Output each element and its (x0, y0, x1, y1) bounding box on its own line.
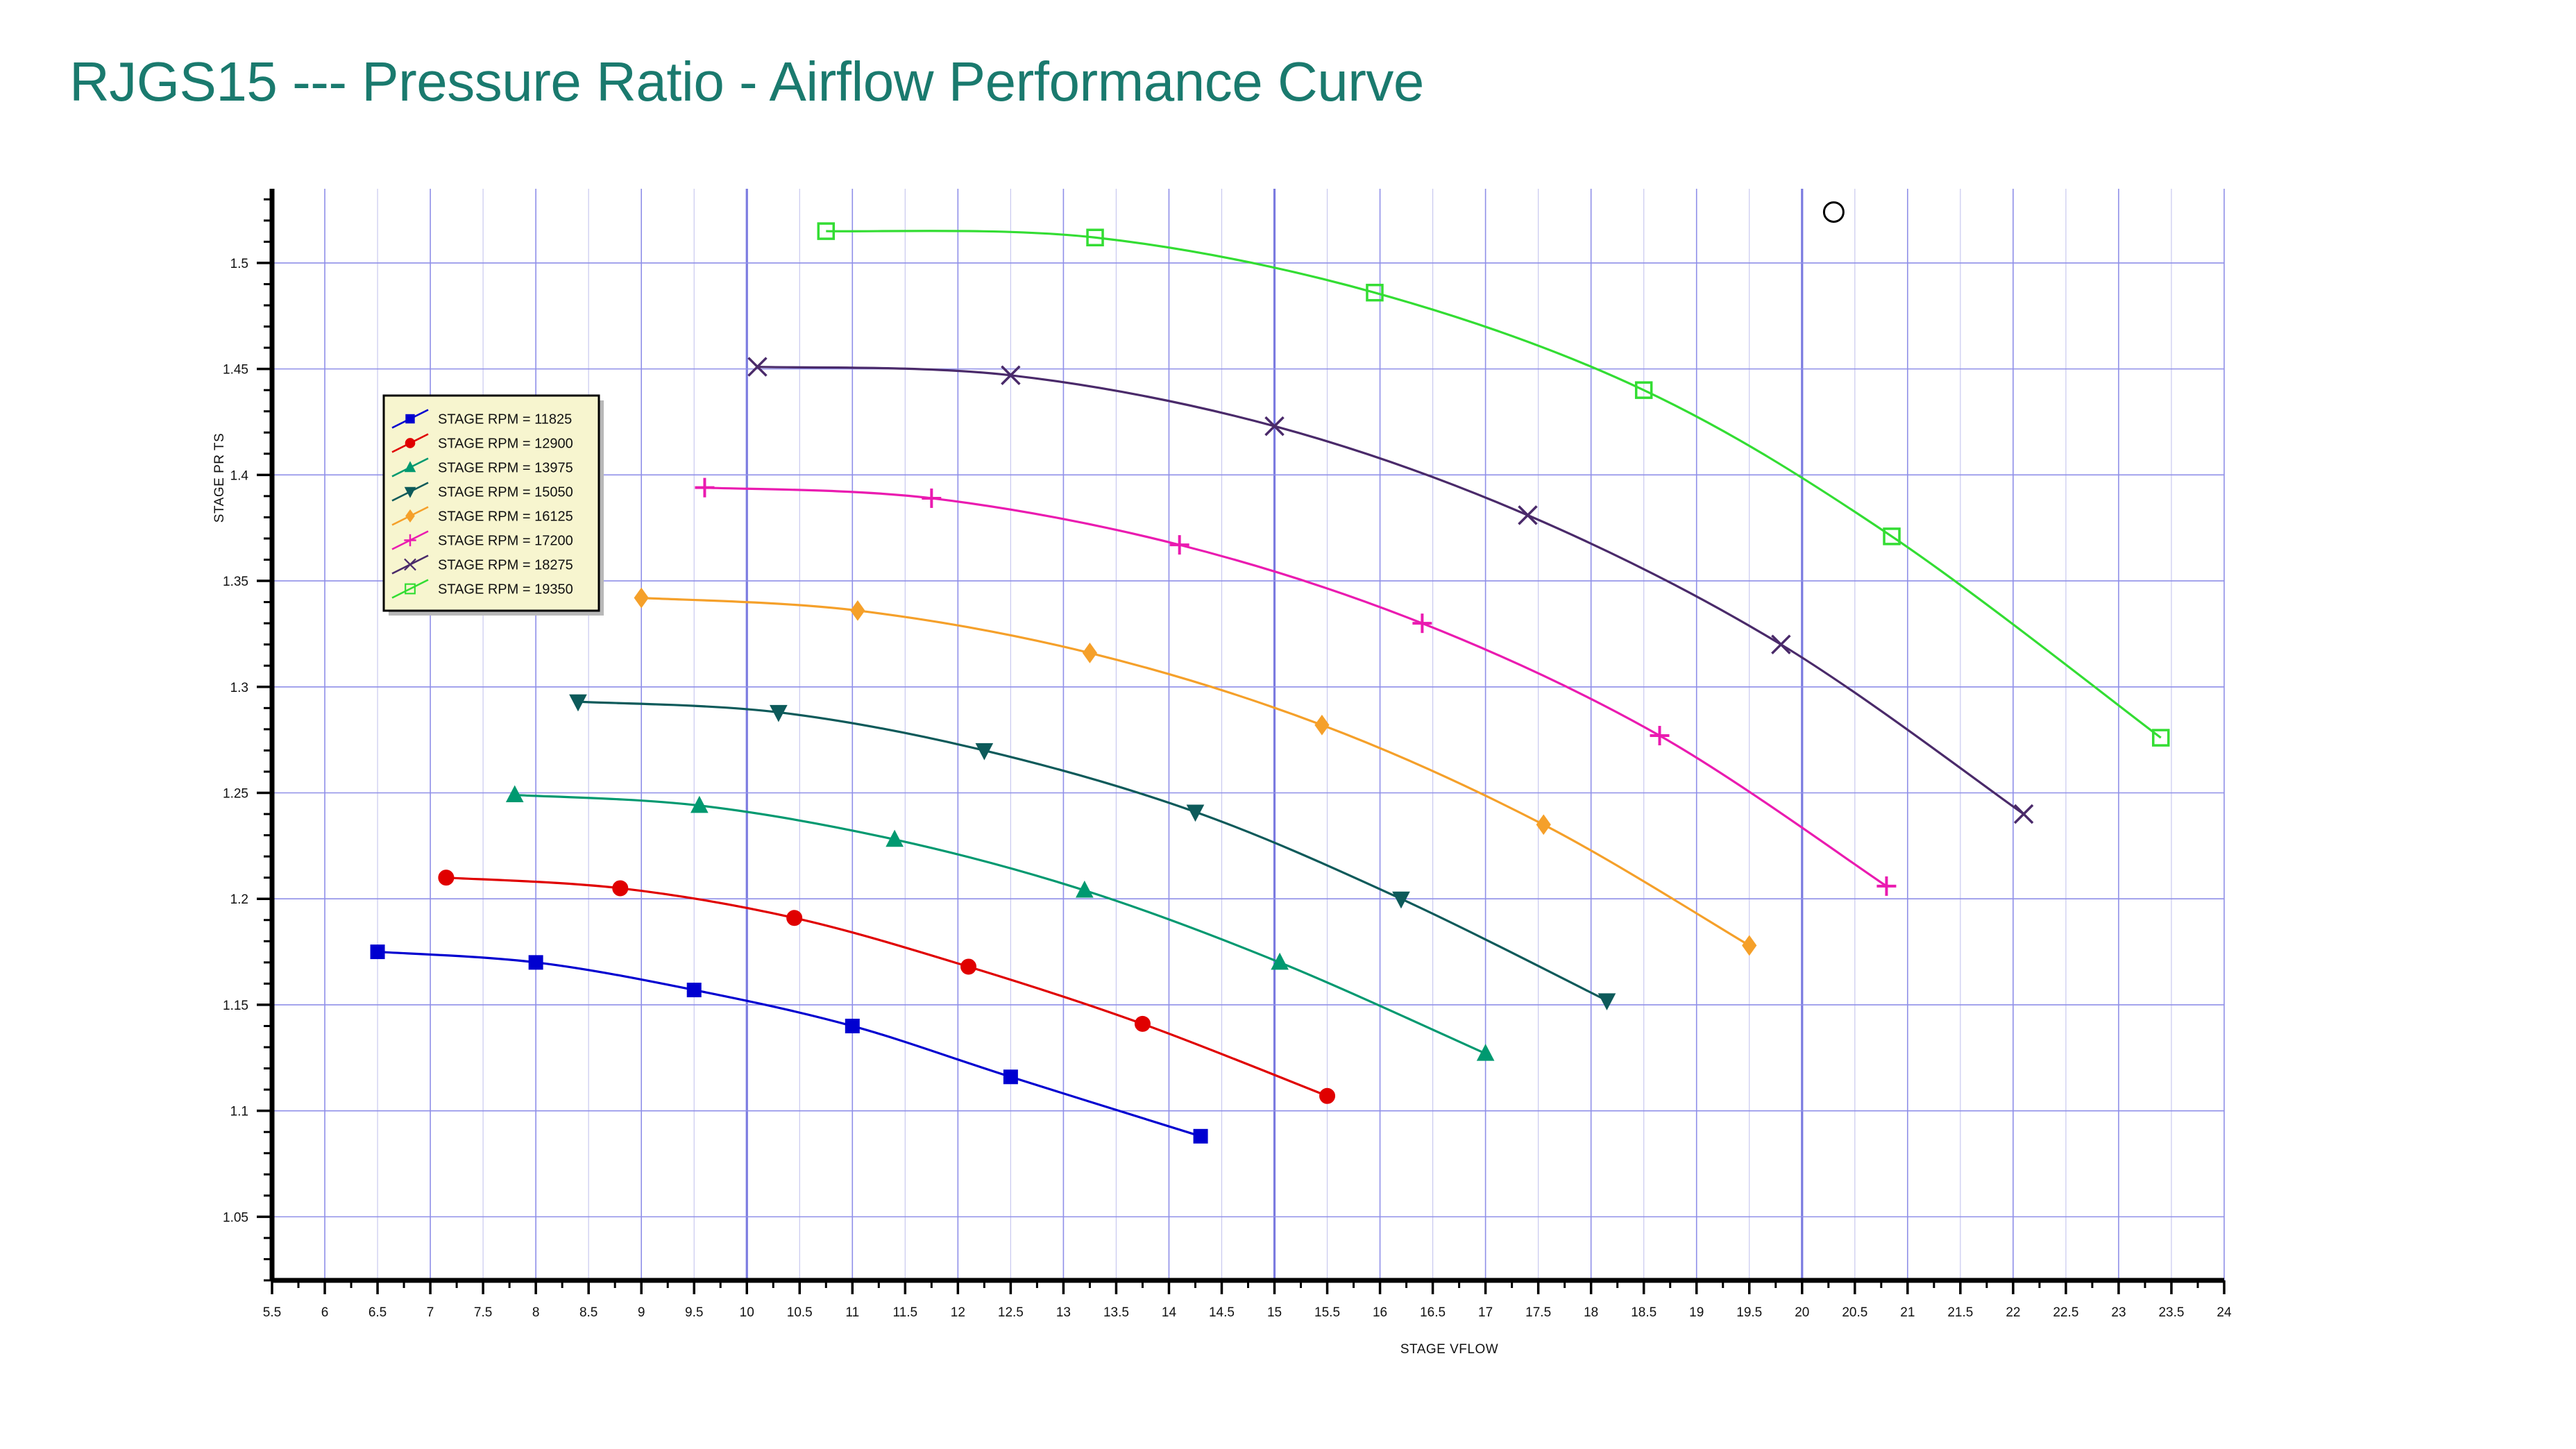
plot-svg: 1.051.11.151.21.251.31.351.41.451.55.566… (0, 0, 2576, 1449)
x-tick-label: 18.5 (1631, 1305, 1656, 1320)
x-tick-label: 24 (2217, 1305, 2232, 1320)
y-axis-title: STAGE PR TS (212, 433, 227, 523)
series-line (378, 952, 1201, 1137)
series-3 (570, 695, 1616, 1010)
x-tick-label: 16.5 (1420, 1305, 1446, 1320)
series-2 (507, 786, 1494, 1061)
y-tick-label: 1.3 (230, 681, 248, 695)
x-tick-label: 12 (951, 1305, 965, 1320)
legend-item-label: STAGE RPM = 13975 (438, 461, 573, 476)
y-tick-label: 1.45 (223, 363, 248, 378)
legend-item-label: STAGE RPM = 17200 (438, 534, 573, 549)
x-tick-label: 5.5 (263, 1305, 281, 1320)
legend-item-label: STAGE RPM = 15050 (438, 485, 573, 500)
x-tick-label: 11 (845, 1305, 859, 1320)
marker-triangle-up (507, 786, 523, 802)
x-tick-label: 8 (532, 1305, 540, 1320)
marker-circle (613, 881, 628, 896)
x-tick-label: 12.5 (998, 1305, 1024, 1320)
marker-circle (405, 439, 415, 448)
x-tick-label: 17 (1478, 1305, 1493, 1320)
x-tick-label: 13 (1056, 1305, 1071, 1320)
x-tick-label: 11.5 (893, 1305, 918, 1320)
x-tick-label: 13.5 (1103, 1305, 1129, 1320)
grid-major (272, 189, 2224, 1280)
y-tick-label: 1.1 (230, 1105, 248, 1119)
marker-circle (787, 910, 802, 926)
series-1 (439, 870, 1335, 1104)
y-tick-label: 1.05 (223, 1210, 248, 1225)
x-tick-label: 16 (1373, 1305, 1387, 1320)
x-tick-label: 22 (2006, 1305, 2020, 1320)
marker-square (1003, 1070, 1017, 1084)
legend-item-label: STAGE RPM = 12900 (438, 437, 573, 452)
x-tick-label: 23 (2111, 1305, 2126, 1320)
legend-item-label: STAGE RPM = 11825 (438, 412, 572, 427)
marker-square (687, 983, 701, 997)
y-tick-label: 1.5 (230, 257, 248, 271)
marker-circle (1320, 1088, 1335, 1103)
x-tick-label: 15.5 (1314, 1305, 1340, 1320)
performance-chart: 1.051.11.151.21.251.31.351.41.451.55.566… (0, 0, 2576, 1449)
marker-square (529, 956, 543, 969)
series-line (578, 702, 1607, 1001)
marker-square (406, 414, 414, 423)
x-tick-label: 17.5 (1525, 1305, 1551, 1320)
x-tick-label: 7 (427, 1305, 434, 1320)
series-line (446, 878, 1328, 1096)
series-4 (634, 588, 1756, 955)
marker-square (845, 1019, 859, 1033)
legend-item-label: STAGE RPM = 19350 (438, 582, 573, 598)
x-tick-label: 22.5 (2053, 1305, 2078, 1320)
legend-item-label: STAGE RPM = 16125 (438, 509, 573, 525)
x-axis-title: STAGE VFLOW (1400, 1342, 1498, 1357)
marker-diamond (1536, 815, 1550, 834)
chart-page: RJGS15 --- Pressure Ratio - Airflow Perf… (0, 0, 2576, 1449)
x-tick-label: 6 (321, 1305, 329, 1320)
y-tick-label: 1.4 (230, 468, 249, 483)
marker-triangle-down (1598, 994, 1615, 1010)
x-tick-label: 10.5 (787, 1305, 813, 1320)
x-tick-label: 14.5 (1209, 1305, 1235, 1320)
marker-triangle-down (1393, 892, 1409, 908)
series-line (757, 367, 2024, 814)
marker-diamond (634, 588, 648, 607)
series-group (371, 203, 2169, 1144)
x-tick-label: 9.5 (685, 1305, 703, 1320)
marker-diamond (1083, 643, 1096, 663)
marker-circle (1135, 1016, 1150, 1031)
y-tick-label: 1.2 (230, 892, 248, 907)
x-tick-label: 8.5 (579, 1305, 598, 1320)
x-tick-label: 7.5 (474, 1305, 492, 1320)
x-tick-label: 15 (1267, 1305, 1282, 1320)
series-7 (818, 223, 2168, 745)
marker-diamond (1743, 935, 1756, 955)
x-tick-label: 10 (740, 1305, 754, 1320)
series-0 (371, 945, 1207, 1144)
x-tick-label: 20 (1795, 1305, 1809, 1320)
marker-diamond (1315, 715, 1329, 735)
x-tick-label: 20.5 (1842, 1305, 1867, 1320)
x-tick-label: 21 (1900, 1305, 1915, 1320)
x-tick-label: 18 (1584, 1305, 1598, 1320)
marker-circle (439, 870, 454, 885)
x-tick-label: 14 (1162, 1305, 1177, 1320)
legend-item-label: STAGE RPM = 18275 (438, 558, 573, 573)
x-tick-label: 6.5 (368, 1305, 387, 1320)
marker-triangle-up (1477, 1044, 1494, 1060)
x-tick-label: 21.5 (1947, 1305, 1973, 1320)
legend-box (384, 396, 599, 611)
series-line (515, 795, 1486, 1054)
marker-square (371, 945, 384, 959)
x-tick-label: 19.5 (1736, 1305, 1762, 1320)
y-tick-label: 1.25 (223, 786, 248, 801)
x-tick-label: 23.5 (2158, 1305, 2184, 1320)
y-tick-label: 1.35 (223, 575, 248, 589)
y-tick-label: 1.15 (223, 999, 248, 1013)
artifact-circle-icon (1824, 203, 1843, 222)
marker-square (1194, 1129, 1207, 1143)
legend: STAGE RPM = 11825STAGE RPM = 12900STAGE … (384, 396, 604, 616)
grid-minor (272, 189, 2171, 1280)
marker-circle (961, 959, 976, 974)
x-tick-label: 9 (638, 1305, 645, 1320)
series-line (641, 598, 1749, 945)
x-tick-label: 19 (1689, 1305, 1704, 1320)
axes-group (257, 189, 2224, 1294)
